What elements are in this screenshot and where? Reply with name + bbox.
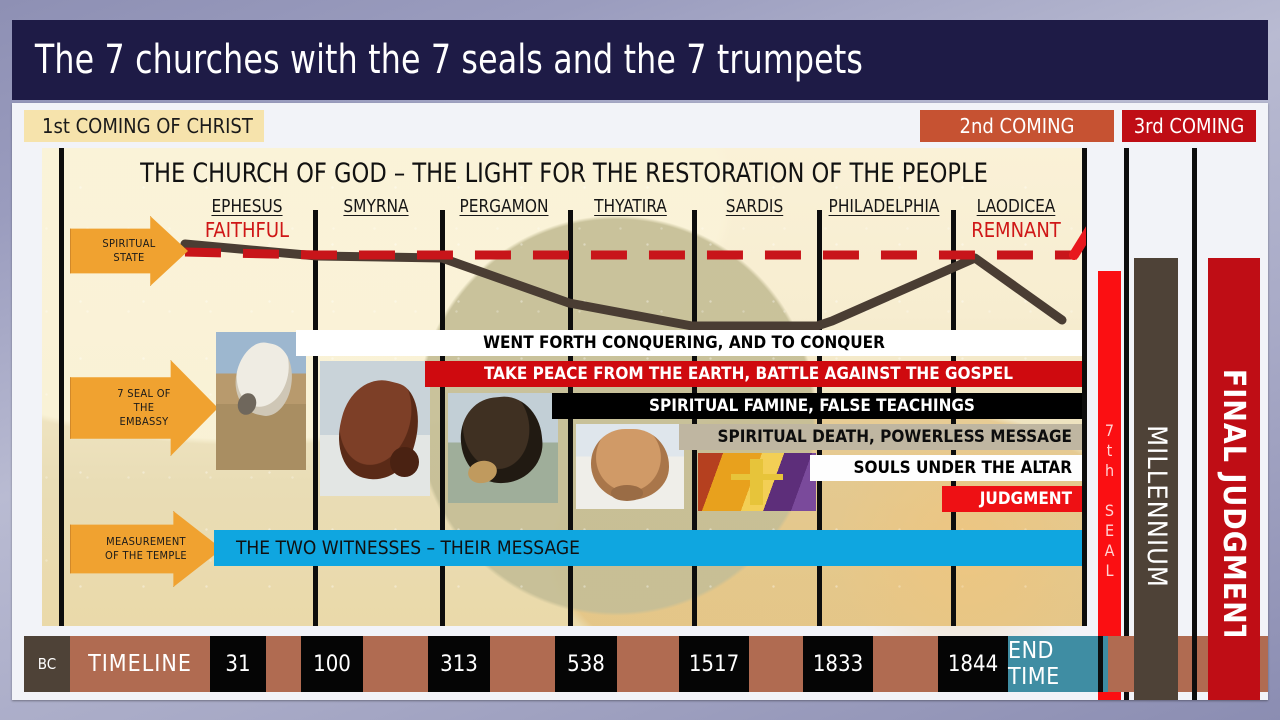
timeline-date-31[interactable]: 31 bbox=[210, 636, 266, 692]
arrow-line: OF THE TEMPLE bbox=[105, 549, 187, 563]
timeline-final-judgment-block bbox=[1208, 636, 1260, 692]
seventh-seal-char: t bbox=[1107, 441, 1113, 461]
seventh-seal-char: h bbox=[1105, 461, 1114, 481]
final-judgment-column: FINAL JUDGMENT bbox=[1208, 258, 1260, 700]
seal-image-altar-cross bbox=[698, 453, 816, 511]
church-label-laodicea: LAODICEA bbox=[954, 196, 1078, 217]
era-divider-line bbox=[59, 148, 64, 626]
era-divider-line bbox=[1082, 148, 1087, 626]
seal-bar-5: SOULS UNDER THE ALTAR bbox=[810, 455, 1082, 481]
timeline-date-538[interactable]: 538 bbox=[555, 636, 617, 692]
seventh-seal-char: S bbox=[1105, 501, 1114, 521]
arrow-line: EMBASSY bbox=[119, 415, 168, 429]
seal-bar-1: WENT FORTH CONQUERING, AND TO CONQUER bbox=[296, 330, 1082, 356]
annotation-remnant: REMNANT bbox=[951, 218, 1081, 242]
seventh-seal-char bbox=[1107, 481, 1112, 501]
slide-title-bar: The 7 churches with the 7 seals and the … bbox=[12, 20, 1268, 100]
church-label-ephesus: EPHESUS bbox=[185, 196, 309, 217]
arrow-line: STATE bbox=[113, 251, 144, 265]
seal-bar-4: SPIRITUAL DEATH, POWERLESS MESSAGE bbox=[679, 424, 1082, 450]
column-divider-line bbox=[1124, 148, 1129, 700]
church-label-pergamon: PERGAMON bbox=[443, 196, 565, 217]
timeline-date-1844[interactable]: 1844 bbox=[938, 636, 1008, 692]
column-divider-line bbox=[1192, 148, 1197, 700]
timeline-strip: BC TIMELINE 31 100 313 538 1517 1833 184… bbox=[24, 636, 1268, 692]
timeline-millennium-block bbox=[1134, 636, 1178, 692]
seal-bar-6: JUDGMENT bbox=[942, 486, 1082, 512]
seventh-seal-char: L bbox=[1105, 561, 1113, 581]
timeline-end-time-block: END TIME bbox=[1008, 636, 1108, 692]
arrow-temple-measurement: MEASUREMENT OF THE TEMPLE bbox=[70, 511, 222, 587]
timeline-date-1833[interactable]: 1833 bbox=[803, 636, 873, 692]
banner-second-coming: 2nd COMING bbox=[920, 110, 1114, 142]
timeline-bc-block: BC bbox=[24, 636, 70, 692]
seventh-seal-char: A bbox=[1105, 541, 1115, 561]
slide-canvas: 1st COMING OF CHRIST 2nd COMING 3rd COMI… bbox=[12, 103, 1268, 700]
banner-first-coming: 1st COMING OF CHRIST bbox=[24, 110, 264, 142]
timeline-divider-line bbox=[1192, 636, 1197, 692]
timeline-date-1517[interactable]: 1517 bbox=[679, 636, 749, 692]
panel-heading: THE CHURCH OF GOD – THE LIGHT FOR THE RE… bbox=[79, 158, 1050, 189]
arrow-seven-seals: 7 SEAL OF THE EMBASSY bbox=[70, 360, 218, 456]
seal-image-pale-horse bbox=[576, 424, 684, 509]
seal-image-black-horse bbox=[448, 393, 558, 503]
seal-bar-3: SPIRITUAL FAMINE, FALSE TEACHINGS bbox=[552, 393, 1082, 419]
page-title: The 7 churches with the 7 seals and the … bbox=[12, 37, 863, 83]
arrow-spiritual-state: SPIRITUAL STATE bbox=[70, 216, 188, 286]
arrow-line: THE bbox=[134, 401, 155, 415]
seal-bar-2: TAKE PEACE FROM THE EARTH, BATTLE AGAINS… bbox=[425, 361, 1082, 387]
church-label-philadelphia: PHILADELPHIA bbox=[820, 196, 947, 217]
millennium-column: MILLENNIUM bbox=[1134, 258, 1178, 700]
arrow-line: 7 SEAL OF bbox=[117, 387, 171, 401]
church-label-smyrna: SMYRNA bbox=[315, 196, 437, 217]
banner-third-coming: 3rd COMING bbox=[1122, 110, 1256, 142]
timeline-date-100[interactable]: 100 bbox=[301, 636, 363, 692]
seal-image-red-horse bbox=[320, 361, 430, 496]
arrow-line: MEASUREMENT bbox=[106, 535, 186, 549]
annotation-faithful: FAITHFUL bbox=[182, 218, 312, 242]
millennium-label: MILLENNIUM bbox=[1141, 425, 1172, 588]
two-witnesses-bar: THE TWO WITNESSES – THEIR MESSAGE bbox=[214, 530, 1082, 566]
timeline-label: TIMELINE bbox=[70, 636, 210, 692]
final-judgment-label: FINAL JUDGMENT bbox=[1217, 369, 1252, 644]
timeline-date-313[interactable]: 313 bbox=[428, 636, 490, 692]
arrow-line: SPIRITUAL bbox=[102, 237, 155, 251]
church-label-sardis: SARDIS bbox=[695, 196, 814, 217]
timeline-divider-line bbox=[1098, 636, 1103, 692]
seventh-seal-char: E bbox=[1105, 521, 1114, 541]
seventh-seal-char: 7 bbox=[1105, 421, 1114, 441]
seal-image-white-horse bbox=[216, 332, 306, 470]
chart-panel: THE CHURCH OF GOD – THE LIGHT FOR THE RE… bbox=[42, 148, 1086, 626]
church-label-thyatira: THYATIRA bbox=[572, 196, 689, 217]
